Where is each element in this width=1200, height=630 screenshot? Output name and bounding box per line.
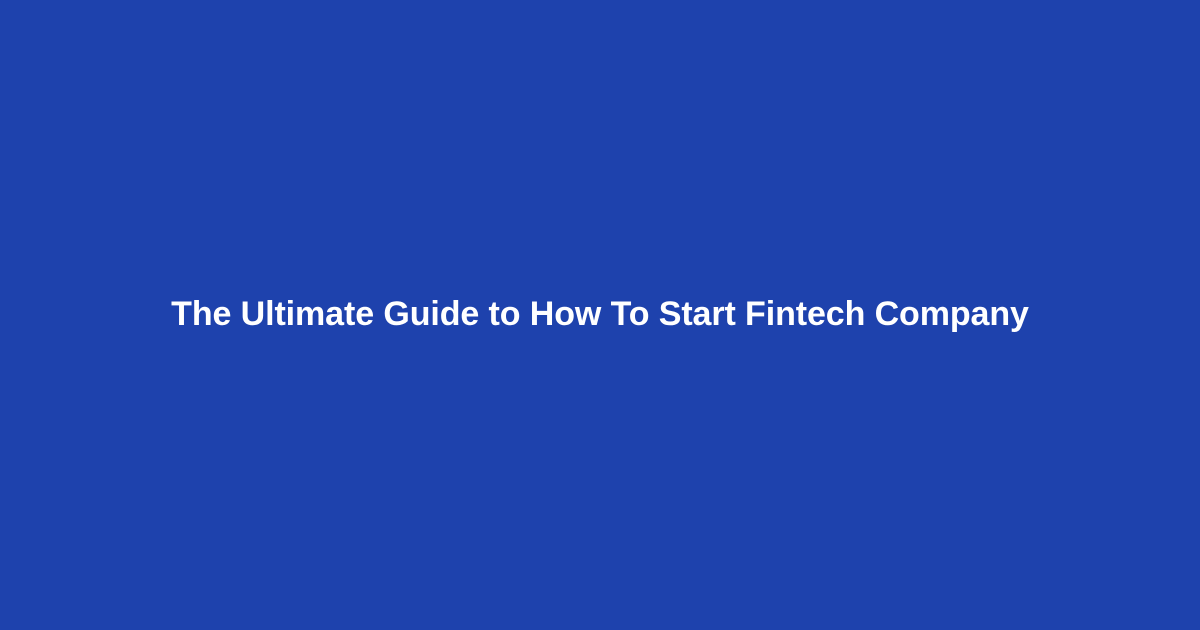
card-content-wrapper: The Ultimate Guide to How To Start Finte… [80, 293, 1120, 337]
card-title: The Ultimate Guide to How To Start Finte… [80, 293, 1120, 337]
social-share-card: The Ultimate Guide to How To Start Finte… [0, 0, 1200, 630]
